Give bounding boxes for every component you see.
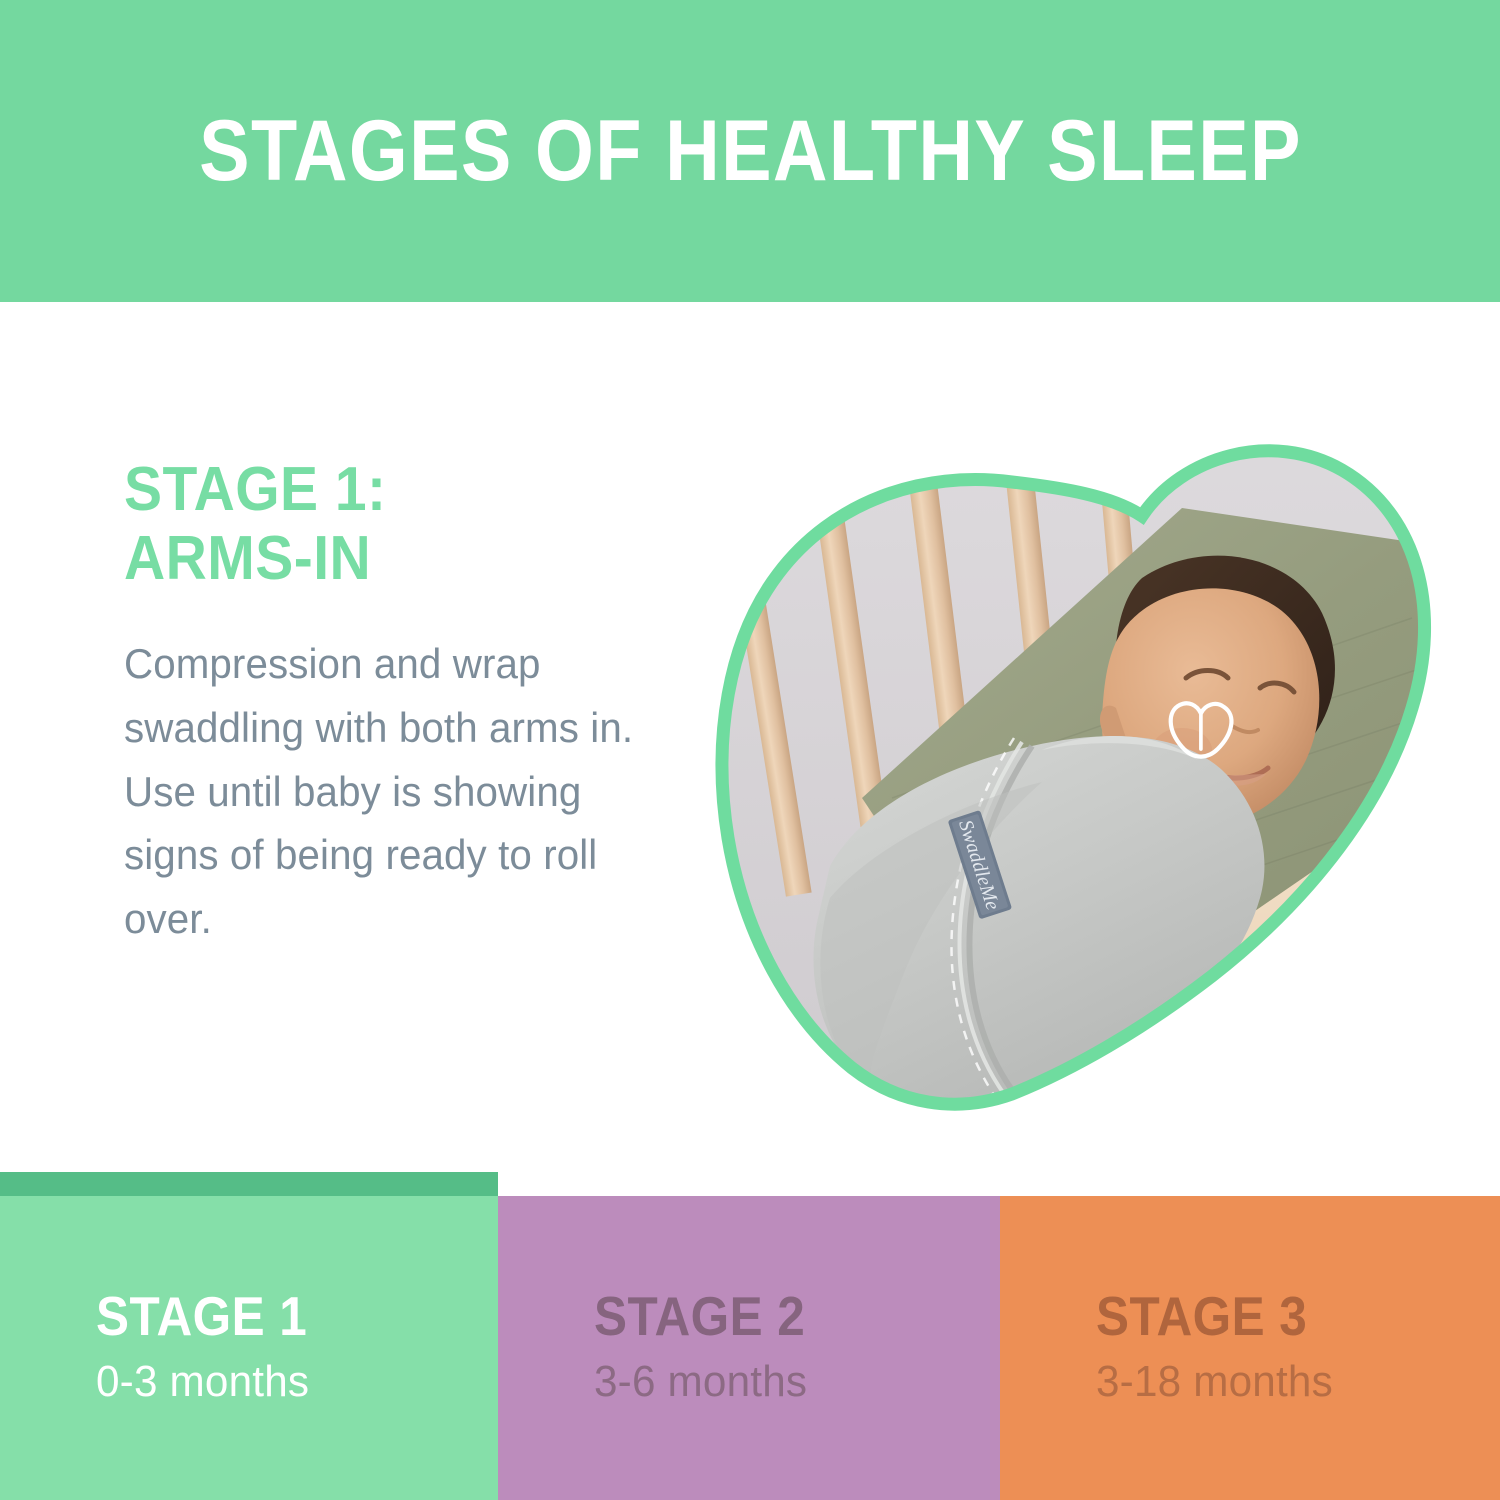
stage-heading-line-2: ARMS-IN	[124, 524, 658, 593]
page-title: STAGES OF HEALTHY SLEEP	[199, 108, 1302, 194]
stage-bar-3-label: STAGE 3	[1096, 1289, 1318, 1344]
stage-bar-1-text: STAGE 1 0-3 months	[96, 1289, 331, 1404]
header-banner: STAGES OF HEALTHY SLEEP	[0, 0, 1500, 302]
stage-bar-1[interactable]: STAGE 1 0-3 months	[0, 1172, 498, 1500]
heart-photo: SwaddleMe	[712, 378, 1452, 1118]
stage-bar-2-sub: 3-6 months	[594, 1360, 819, 1404]
infographic-page: STAGES OF HEALTHY SLEEP STAGE 1: ARMS-IN…	[0, 0, 1500, 1500]
stage-bar-2-text: STAGE 2 3-6 months	[594, 1289, 829, 1404]
stage-bar-3[interactable]: STAGE 3 3-18 months	[1000, 1196, 1500, 1500]
stage-bar-2[interactable]: STAGE 2 3-6 months	[498, 1196, 1000, 1500]
stage-heading: STAGE 1: ARMS-IN	[124, 455, 658, 594]
stage-bar-1-sub: 0-3 months	[96, 1360, 321, 1404]
stage-bar-3-text: STAGE 3 3-18 months	[1096, 1289, 1343, 1404]
stage-bar-1-active-tab	[0, 1172, 498, 1196]
stage-bars: STAGE 1 0-3 months STAGE 2 3-6 months ST…	[0, 1170, 1500, 1500]
crib-leg	[1236, 977, 1277, 1118]
stage-bar-2-label: STAGE 2	[594, 1289, 805, 1344]
stage-heading-line-1: STAGE 1:	[124, 455, 658, 524]
stage-description-column: STAGE 1: ARMS-IN Compression and wrap sw…	[124, 455, 704, 951]
stage-bar-1-label: STAGE 1	[96, 1289, 307, 1344]
stage-bar-3-sub: 3-18 months	[1096, 1360, 1333, 1404]
stage-body-text: Compression and wrap swaddling with both…	[124, 632, 681, 951]
